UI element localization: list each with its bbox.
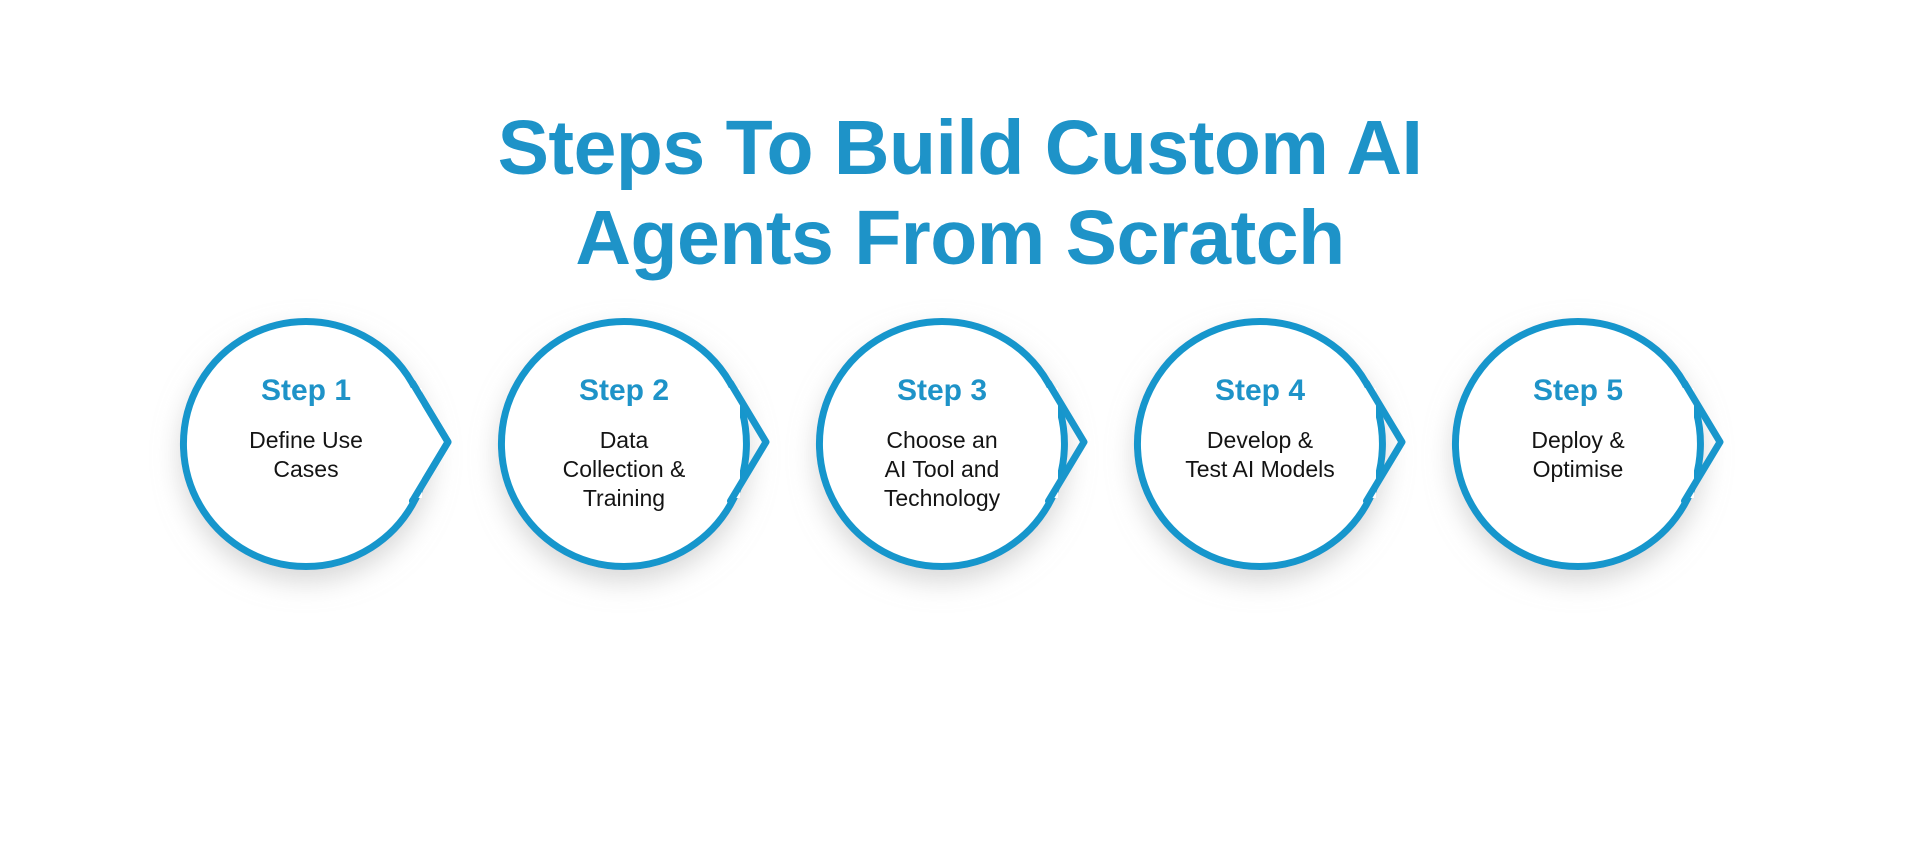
step-bubble-5[interactable]: Step 5 Deploy & Optimise bbox=[1432, 318, 1724, 610]
step-bubble-4[interactable]: Step 4 Develop & Test AI Models bbox=[1114, 318, 1406, 610]
step-bubble-3[interactable]: Step 3 Choose an AI Tool and Technology bbox=[796, 318, 1088, 610]
title-line-1: Steps To Build Custom AI bbox=[0, 103, 1920, 193]
speech-bubble-shape-icon bbox=[796, 318, 1088, 610]
speech-bubble-shape-icon bbox=[478, 318, 770, 610]
speech-bubble-shape-icon bbox=[160, 318, 452, 610]
speech-bubble-shape-icon bbox=[1432, 318, 1724, 610]
title-line-2: Agents From Scratch bbox=[0, 193, 1920, 283]
infographic-canvas: Steps To Build Custom AI Agents From Scr… bbox=[0, 0, 1920, 851]
step-bubble-1[interactable]: Step 1 Define Use Cases bbox=[160, 318, 452, 610]
page-title: Steps To Build Custom AI Agents From Scr… bbox=[0, 103, 1920, 283]
steps-row: Step 1 Define Use Cases Step 2 Data Coll… bbox=[0, 318, 1920, 638]
step-bubble-2[interactable]: Step 2 Data Collection & Training bbox=[478, 318, 770, 610]
speech-bubble-shape-icon bbox=[1114, 318, 1406, 610]
